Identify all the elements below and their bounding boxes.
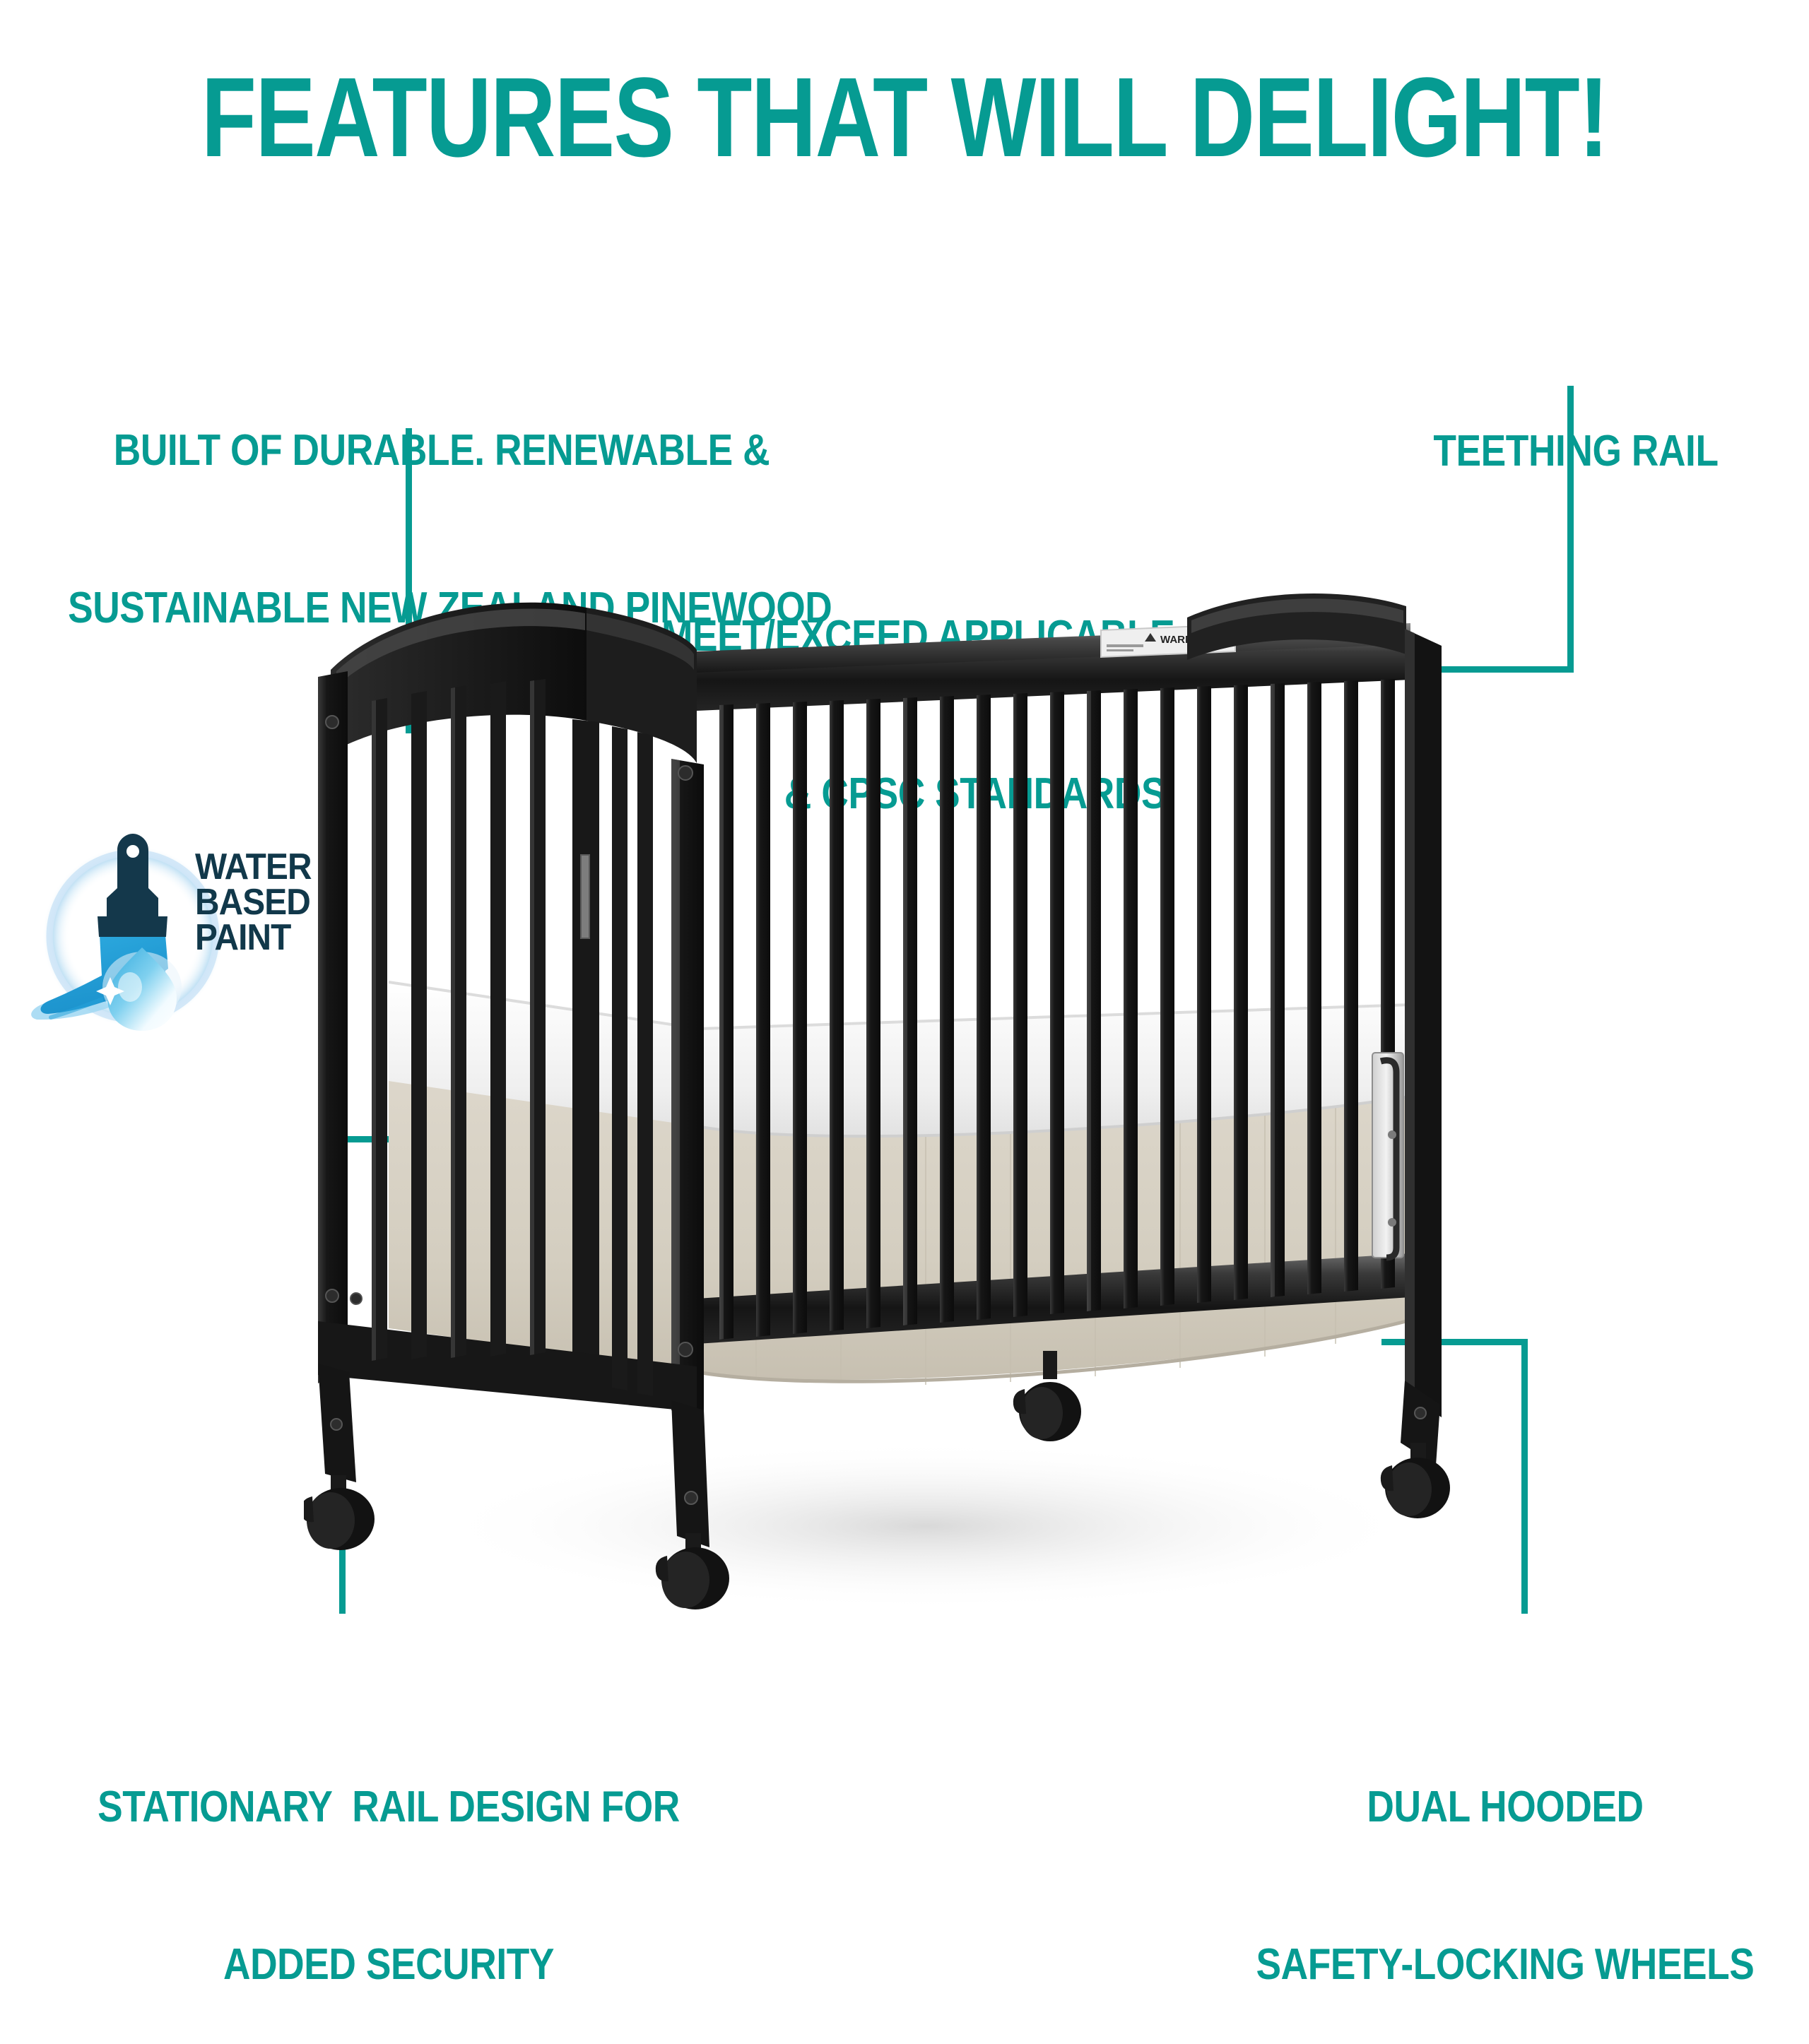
callout-wheels-line1: DUAL HOODED	[1244, 1781, 1767, 1833]
water-based-paint-badge: WATER BASED PAINT	[27, 809, 352, 1056]
callout-stationary-line2: ADDED SECURITY	[54, 1939, 723, 1991]
callout-teething-rail: TEETHING RAIL	[1345, 320, 1807, 531]
badge-text-line3: PAINT	[195, 921, 312, 956]
callout-stationary-line1: STATIONARY RAIL DESIGN FOR	[54, 1781, 723, 1833]
badge-text: WATER BASED PAINT	[195, 850, 312, 956]
caster-wheel-front-left	[304, 1475, 375, 1550]
mattress-support-bracket	[1372, 1053, 1403, 1258]
callout-pinewood-line1: BUILT OF DURABLE. RENEWABLE &	[68, 425, 815, 477]
floor-shadow	[431, 1441, 1420, 1611]
page-title: FEATURES THAT WILL DELIGHT!	[181, 61, 1628, 174]
callout-dual-hooded-wheels: DUAL HOODED SAFETY-LOCKING WHEELS	[1244, 1676, 1767, 2044]
product-image-crib: WARNING	[304, 586, 1519, 1618]
badge-text-line1: WATER	[195, 850, 312, 885]
callout-stationary-rail: STATIONARY RAIL DESIGN FOR ADDED SECURIT…	[54, 1676, 723, 2044]
badge-text-line2: BASED	[195, 885, 312, 921]
leader-line-wheels-vertical	[1521, 1339, 1528, 1614]
callout-teething-line1: TEETHING RAIL	[1345, 425, 1807, 478]
callout-wheels-line2: SAFETY-LOCKING WHEELS	[1244, 1939, 1767, 1991]
